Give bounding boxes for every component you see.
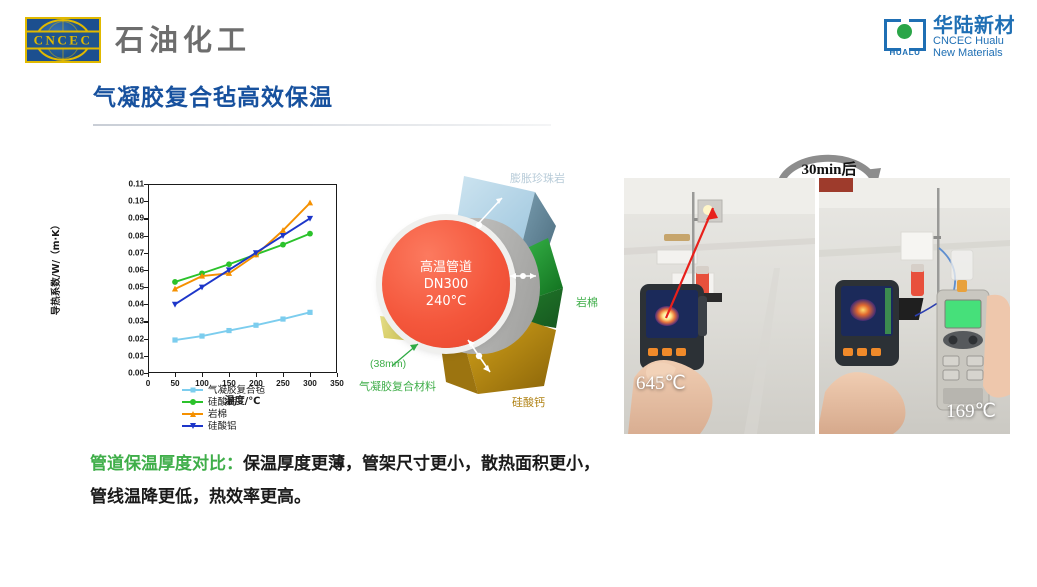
chart-data-point (172, 337, 177, 342)
chart-y-tick-label: 0.03 (114, 317, 144, 326)
chart-x-tick-mark (310, 373, 311, 377)
chart-data-point (280, 316, 285, 321)
photo-after: 169℃ (819, 178, 1010, 434)
chart-y-tick-label: 0.04 (114, 300, 144, 309)
chart-legend-label: 气凝胶复合毡 (208, 385, 265, 396)
chart-legend-item[interactable]: 硅酸铝 (182, 420, 265, 432)
chart-legend-swatch (182, 425, 203, 427)
chart-y-tick-label: 0.07 (114, 248, 144, 257)
chart-x-tick-mark (256, 373, 257, 377)
hualu-mark-label: HUALU (884, 49, 926, 57)
chart-legend-swatch (182, 389, 203, 391)
chart-data-point (172, 302, 178, 308)
chart-data-point (307, 310, 312, 315)
chart-x-tick-label: 350 (330, 379, 344, 388)
chart-legend-marker-icon (190, 423, 196, 429)
chart-legend-item[interactable]: 硅酸钙 (182, 396, 265, 408)
chart-x-tick-mark (337, 373, 338, 377)
chart-series-line (175, 234, 310, 282)
slide-root: CNCEC 石油化工 HUALU 华陆新材 CNCEC Hualu New Ma… (0, 0, 1037, 587)
chart-x-tick-mark (202, 373, 203, 377)
chart-legend-item[interactable]: 气凝胶复合毡 (182, 384, 265, 396)
thermal-test-photos: 645℃ (624, 178, 1011, 434)
chart-x-tick-mark (283, 373, 284, 377)
pipe-core-line3: 240°C (426, 293, 466, 310)
chart-legend-marker-icon (190, 399, 196, 405)
title-divider (93, 124, 551, 126)
chart-y-tick-label: 0.00 (114, 369, 144, 378)
chart-legend-marker-icon (190, 388, 195, 393)
chart-data-point (226, 328, 231, 333)
hualu-en-line2: New Materials (933, 47, 1015, 59)
hualu-mark-icon: HUALU (884, 17, 926, 57)
chart-legend-label: 硅酸钙 (208, 397, 237, 408)
chart-y-ticks: 0.000.010.020.030.040.050.060.070.080.09… (110, 184, 144, 373)
chart-y-tick-label: 0.11 (114, 180, 144, 189)
hualu-cn-name: 华陆新材 (933, 15, 1015, 35)
photo-before-graphic (624, 178, 815, 434)
chart-y-tick-label: 0.10 (114, 197, 144, 206)
chart-legend: 气凝胶复合毡硅酸钙岩棉硅酸铝 (182, 384, 265, 432)
chart-data-point (307, 231, 313, 237)
photo-before: 645℃ (624, 178, 815, 434)
chart-legend-marker-icon (190, 411, 196, 417)
chart-y-tick-label: 0.09 (114, 214, 144, 223)
chart-x-tick-label: 50 (170, 379, 179, 388)
pipe-core-line2: DN300 (424, 276, 469, 293)
hualu-logo: HUALU 华陆新材 CNCEC Hualu New Materials (884, 14, 1015, 60)
summary-text: 管道保温厚度对比：保温厚度更薄，管架尺寸更小，散热面积更小，管线温降更低，热效率… (90, 448, 610, 514)
chart-x-tick-label: 250 (276, 379, 290, 388)
chart-data-point (226, 261, 232, 267)
chart-x-tick-mark (148, 373, 149, 377)
temperature-label-before: 645℃ (636, 373, 686, 394)
page-header: CNCEC 石油化工 HUALU 华陆新材 CNCEC Hualu New Ma… (0, 0, 1037, 72)
chart-y-tick-label: 0.01 (114, 351, 144, 360)
chart-legend-swatch (182, 401, 203, 403)
chart-legend-item[interactable]: 岩棉 (182, 408, 265, 420)
thermal-conductivity-chart: 导热系数/W/（m·K） 温度/℃ 0.000.010.020.030.040.… (64, 176, 356, 416)
chart-legend-label: 岩棉 (208, 409, 227, 420)
chart-series-line (175, 312, 310, 340)
pipe-core: 高温管道 DN300 240°C (382, 220, 510, 348)
temperature-label-after: 169℃ (946, 401, 996, 422)
chart-y-axis-label: 导热系数/W/（m·K） (52, 220, 62, 315)
chart-data-point (307, 200, 313, 206)
hualu-en-line1: CNCEC Hualu (933, 35, 1015, 47)
chart-x-tick-label: 300 (303, 379, 317, 388)
elapsed-time-label: 30min后 (801, 162, 856, 178)
photo-after-graphic (819, 178, 1010, 434)
chart-y-tick-label: 0.05 (114, 283, 144, 292)
chart-data-point (280, 242, 286, 248)
chart-series-layer (148, 184, 337, 373)
petro-title: 石油化工 (115, 25, 251, 55)
pipe-insulation-diagram: 高温管道 DN300 240°C (360, 168, 618, 420)
chart-x-tick-label: 0 (146, 379, 151, 388)
chart-legend-swatch (182, 413, 203, 415)
cncec-logo-text: CNCEC (27, 31, 99, 50)
summary-highlight: 管道保温厚度对比： (90, 454, 243, 474)
page-title: 气凝胶复合毡高效保温 (93, 85, 333, 111)
chart-data-point (172, 279, 178, 285)
chart-y-tick-label: 0.06 (114, 265, 144, 274)
cncec-logo: CNCEC (25, 17, 101, 63)
pipe-core-line1: 高温管道 (420, 259, 472, 276)
chart-series-line (175, 218, 310, 304)
chart-y-tick-label: 0.02 (114, 334, 144, 343)
chart-y-tick-label: 0.08 (114, 231, 144, 240)
chart-x-tick-mark (229, 373, 230, 377)
chart-data-point (253, 323, 258, 328)
chart-data-point (199, 333, 204, 338)
chart-legend-label: 硅酸铝 (208, 421, 237, 432)
chart-x-tick-mark (175, 373, 176, 377)
